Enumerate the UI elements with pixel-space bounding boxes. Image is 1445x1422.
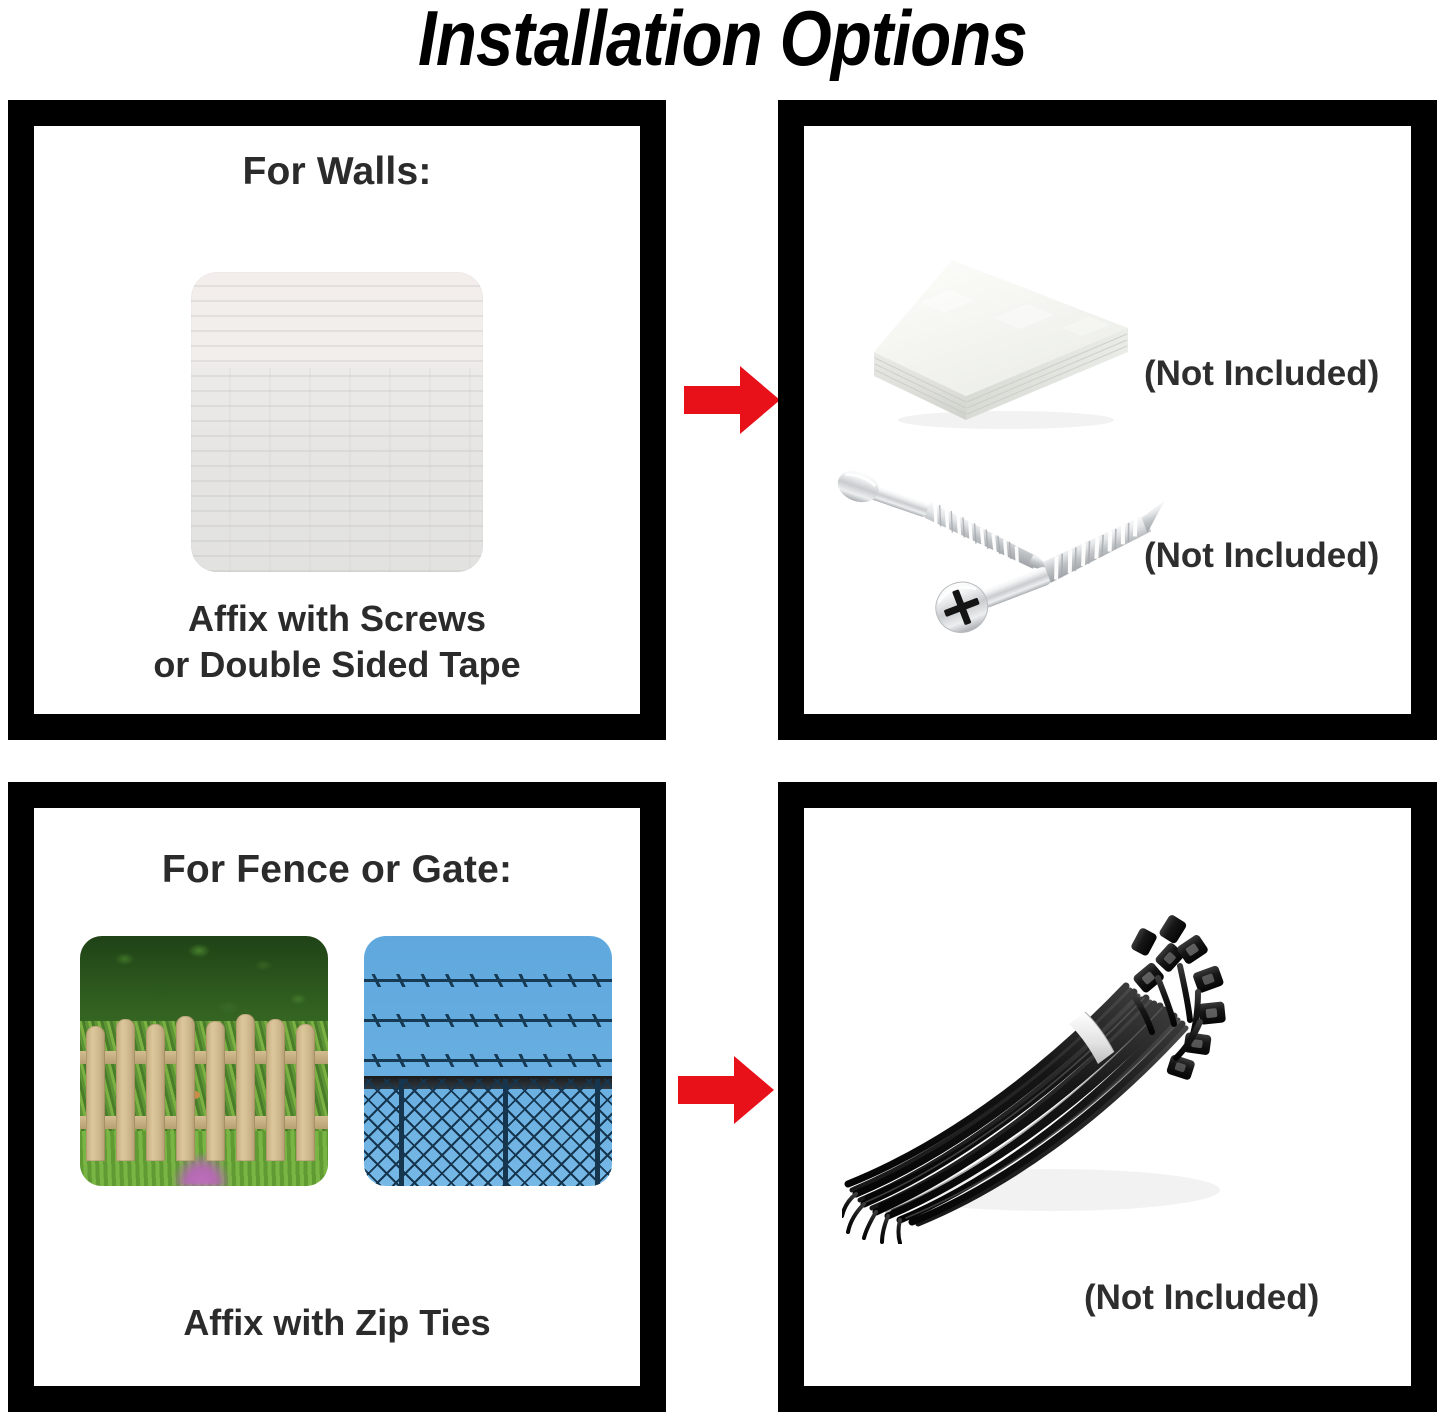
- for-walls-caption-line2: or Double Sided Tape: [34, 642, 640, 688]
- white-brick-wall-photo: [191, 272, 483, 572]
- panel-for-fence-or-gate: For Fence or Gate:: [8, 782, 666, 1412]
- for-walls-heading: For Walls:: [34, 150, 640, 194]
- panel-zip-ties: (Not Included): [778, 782, 1437, 1412]
- panel-for-walls: For Walls: Affix with Screws or Double S…: [8, 100, 666, 740]
- wood-screws-image: [836, 460, 1186, 645]
- zip-ties-not-included-label: (Not Included): [1084, 1278, 1319, 1318]
- for-walls-caption: Affix with Screws or Double Sided Tape: [34, 596, 640, 688]
- double-sided-tape-stack-image: [866, 244, 1136, 434]
- screw-upper: [836, 465, 1067, 576]
- tape-not-included-label: (Not Included): [1144, 354, 1379, 394]
- panel-for-walls-content: For Walls: Affix with Screws or Double S…: [34, 126, 640, 714]
- screws-not-included-label: (Not Included): [1144, 536, 1379, 576]
- panel-zip-ties-content: (Not Included): [804, 808, 1411, 1386]
- panel-for-fence-or-gate-content: For Fence or Gate:: [34, 808, 640, 1386]
- panel-wall-hardware-content: (Not Included) (Not Included): [804, 126, 1411, 714]
- page-title: Installation Options: [101, 0, 1344, 80]
- black-zip-tie-bundle-image: [842, 904, 1242, 1244]
- for-fence-or-gate-caption: Affix with Zip Ties: [34, 1300, 640, 1346]
- chain-link-barbed-wire-fence-photo: [364, 936, 612, 1186]
- for-walls-caption-line1: Affix with Screws: [34, 596, 640, 642]
- red-right-arrow-icon: [682, 362, 782, 438]
- wooden-picket-fence-photo: [80, 936, 328, 1186]
- red-right-arrow-icon: [676, 1052, 776, 1128]
- panel-wall-hardware: (Not Included) (Not Included): [778, 100, 1437, 740]
- for-fence-or-gate-heading: For Fence or Gate:: [34, 848, 640, 892]
- installation-options-infographic: Installation Options For Walls: Affix wi…: [0, 0, 1445, 1422]
